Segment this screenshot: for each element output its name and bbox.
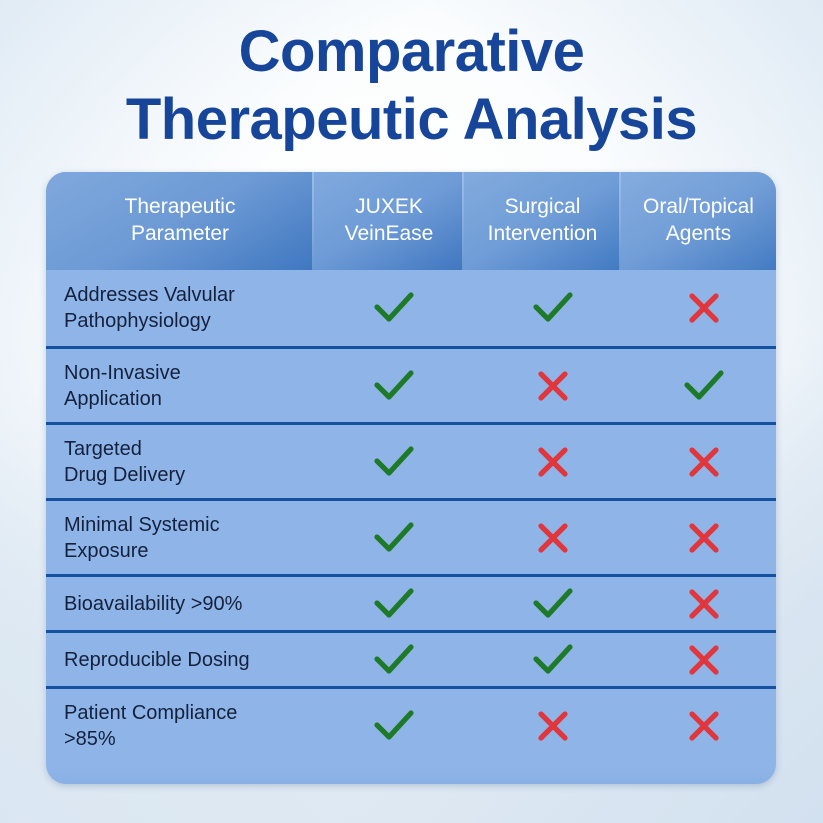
table-cell-mark — [314, 366, 474, 406]
cross-icon — [684, 706, 724, 746]
check-icon — [530, 584, 576, 624]
table-cell-mark — [314, 584, 474, 624]
column-header-line-2: Agents — [643, 221, 754, 248]
row-label-line-1: Patient Compliance — [64, 700, 306, 726]
cross-icon — [684, 442, 724, 482]
cross-icon — [533, 442, 573, 482]
row-label-line-1: Bioavailability >90% — [64, 591, 306, 617]
table-row: Addresses ValvularPathophysiology — [46, 270, 776, 346]
table-cell-mark — [631, 442, 776, 482]
row-label-line-2: >85% — [64, 726, 306, 752]
cross-icon — [684, 640, 724, 680]
table-row: Bioavailability >90% — [46, 574, 776, 630]
cross-icon — [684, 288, 724, 328]
column-header-therapeutic-parameter: Therapeutic Parameter — [46, 172, 314, 270]
check-icon — [530, 584, 576, 624]
check-icon — [371, 706, 417, 746]
table-row: Patient Compliance>85% — [46, 686, 776, 762]
table-cell-mark — [631, 706, 776, 746]
comparison-table: Therapeutic Parameter JUXEK VeinEase Sur… — [46, 172, 776, 784]
row-label-line-1: Non-Invasive — [64, 360, 306, 386]
row-label-line-1: Targeted — [64, 436, 306, 462]
page-title-line-2: Therapeutic Analysis — [0, 86, 823, 154]
column-header-line-1: Surgical — [488, 194, 598, 221]
cross-icon — [533, 706, 573, 746]
table-cell-mark — [314, 640, 474, 680]
check-icon — [371, 584, 417, 624]
table-cell-mark — [474, 640, 631, 680]
cross-icon — [684, 518, 724, 558]
table-cell-mark — [314, 518, 474, 558]
check-icon — [371, 640, 417, 680]
table-cell-mark — [474, 706, 631, 746]
table-cell-mark — [631, 366, 776, 406]
row-label: Minimal SystemicExposure — [46, 512, 314, 564]
column-header-surgical-intervention: Surgical Intervention — [464, 172, 621, 270]
table-row: Minimal SystemicExposure — [46, 498, 776, 574]
row-label-line-2: Application — [64, 386, 306, 412]
column-header-line-1: JUXEK — [345, 194, 434, 221]
column-header-line-1: Therapeutic — [125, 194, 236, 221]
row-label-line-2: Pathophysiology — [64, 308, 306, 334]
cross-icon — [684, 288, 724, 328]
cross-icon — [533, 518, 573, 558]
row-label: Non-InvasiveApplication — [46, 360, 314, 412]
row-label: Reproducible Dosing — [46, 647, 314, 673]
cross-icon — [684, 584, 724, 624]
check-icon — [371, 518, 417, 558]
check-icon — [371, 366, 417, 406]
page-title-line-1: Comparative — [0, 18, 823, 86]
table-row: TargetedDrug Delivery — [46, 422, 776, 498]
check-icon — [371, 288, 417, 328]
table-row: Reproducible Dosing — [46, 630, 776, 686]
table-cell-mark — [474, 518, 631, 558]
table-cell-mark — [474, 584, 631, 624]
check-icon — [371, 442, 417, 482]
check-icon — [530, 640, 576, 680]
row-label: TargetedDrug Delivery — [46, 436, 314, 488]
row-label-line-2: Exposure — [64, 538, 306, 564]
row-label-line-1: Reproducible Dosing — [64, 647, 306, 673]
table-cell-mark — [631, 288, 776, 328]
row-label-line-2: Drug Delivery — [64, 462, 306, 488]
table-cell-mark — [474, 366, 631, 406]
table-cell-mark — [474, 288, 631, 328]
table-body: Addresses ValvularPathophysiologyNon-Inv… — [46, 270, 776, 762]
cross-icon — [684, 640, 724, 680]
row-label-line-1: Addresses Valvular — [64, 282, 306, 308]
check-icon — [371, 288, 417, 328]
cross-icon — [533, 366, 573, 406]
column-header-line-2: Intervention — [488, 221, 598, 248]
check-icon — [681, 366, 727, 406]
column-header-line-1: Oral/Topical — [643, 194, 754, 221]
cross-icon — [533, 518, 573, 558]
column-header-line-2: VeinEase — [345, 221, 434, 248]
cross-icon — [533, 442, 573, 482]
table-cell-mark — [631, 584, 776, 624]
check-icon — [530, 288, 576, 328]
table-header-row: Therapeutic Parameter JUXEK VeinEase Sur… — [46, 172, 776, 270]
column-header-line-2: Parameter — [125, 221, 236, 248]
cross-icon — [684, 584, 724, 624]
check-icon — [371, 640, 417, 680]
row-label-line-1: Minimal Systemic — [64, 512, 306, 538]
column-header-oral-topical-agents: Oral/Topical Agents — [621, 172, 776, 270]
check-icon — [371, 518, 417, 558]
row-label: Patient Compliance>85% — [46, 700, 314, 752]
table-cell-mark — [474, 442, 631, 482]
check-icon — [371, 442, 417, 482]
table-row: Non-InvasiveApplication — [46, 346, 776, 422]
check-icon — [371, 584, 417, 624]
cross-icon — [684, 706, 724, 746]
table-cell-mark — [314, 288, 474, 328]
table-cell-mark — [631, 640, 776, 680]
check-icon — [371, 706, 417, 746]
check-icon — [371, 366, 417, 406]
table-cell-mark — [631, 518, 776, 558]
cross-icon — [684, 442, 724, 482]
cross-icon — [533, 706, 573, 746]
row-label: Bioavailability >90% — [46, 591, 314, 617]
check-icon — [681, 366, 727, 406]
cross-icon — [684, 518, 724, 558]
check-icon — [530, 640, 576, 680]
row-label: Addresses ValvularPathophysiology — [46, 282, 314, 334]
comparison-infographic: Comparative Therapeutic Analysis Therape… — [0, 0, 823, 823]
table-cell-mark — [314, 706, 474, 746]
check-icon — [530, 288, 576, 328]
column-header-juxek-veinease: JUXEK VeinEase — [314, 172, 464, 270]
table-cell-mark — [314, 442, 474, 482]
page-title: Comparative Therapeutic Analysis — [0, 18, 823, 154]
cross-icon — [533, 366, 573, 406]
